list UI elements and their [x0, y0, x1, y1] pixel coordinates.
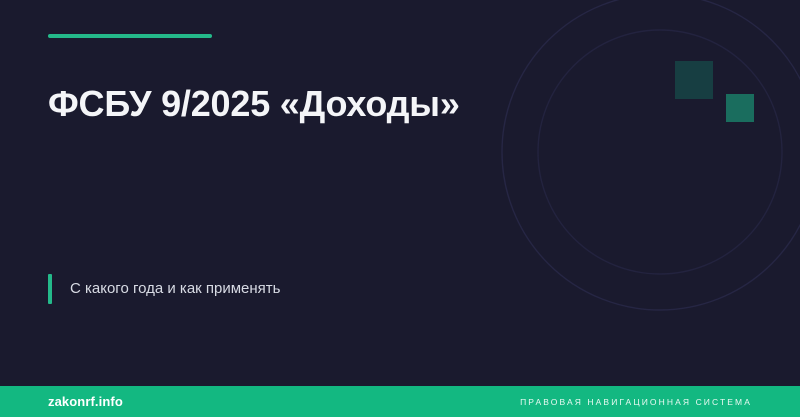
decorative-square-small [726, 94, 754, 122]
page-title: ФСБУ 9/2025 «Доходы» [48, 82, 460, 126]
footer-brand-logo: zakonrf.info [48, 394, 123, 409]
subtitle-block: С какого года и как применять [48, 274, 280, 304]
footer-bar: zakonrf.info ПРАВОВАЯ НАВИГАЦИОННАЯ СИСТ… [0, 386, 800, 417]
decorative-square-large [675, 61, 713, 99]
promo-banner: ФСБУ 9/2025 «Доходы» С какого года и как… [0, 0, 800, 417]
footer-tagline: ПРАВОВАЯ НАВИГАЦИОННАЯ СИСТЕМА [520, 397, 752, 407]
title-accent-rule [48, 34, 212, 38]
subtitle-text: С какого года и как применять [70, 279, 280, 299]
subtitle-accent-bar [48, 274, 52, 304]
outer-circle-icon [502, 0, 800, 310]
inner-circle-icon [538, 30, 782, 274]
